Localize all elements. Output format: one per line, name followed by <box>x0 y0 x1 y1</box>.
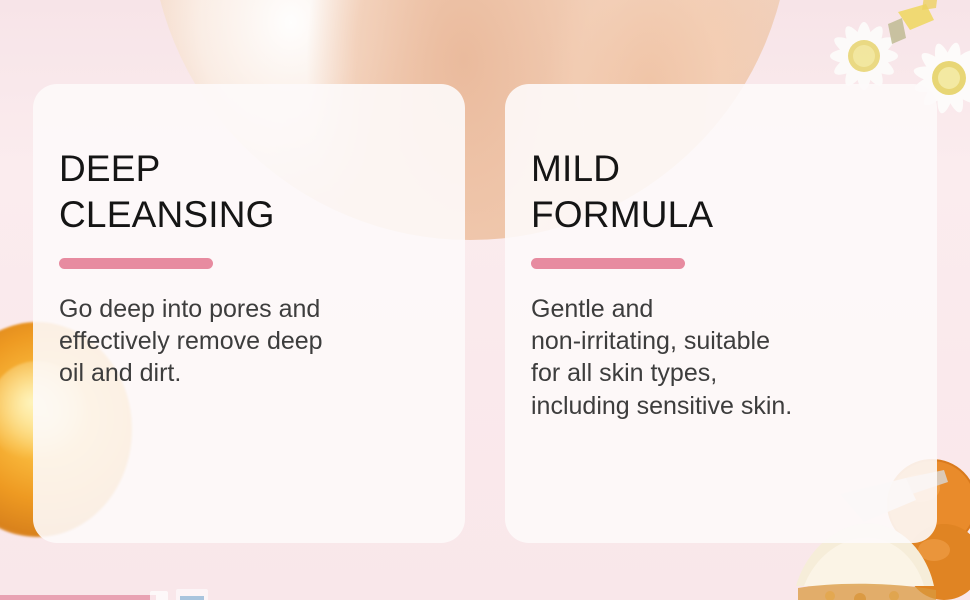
card-description: Go deep into pores and effectively remov… <box>59 293 465 390</box>
feature-card-deep-cleansing[interactable]: DEEP CLEANSING Go deep into pores and ef… <box>33 84 465 543</box>
feature-card-mild-formula[interactable]: MILD FORMULA Gentle and non-irritating, … <box>505 84 937 543</box>
feature-card-list: DEEP CLEANSING Go deep into pores and ef… <box>33 84 937 543</box>
bottom-edge-fragment-a <box>150 591 168 600</box>
card-title: DEEP CLEANSING <box>59 146 465 238</box>
bottom-edge-fragment-c <box>180 596 204 600</box>
card-accent-rule <box>531 258 685 269</box>
bottom-edge-strip <box>0 595 156 600</box>
card-accent-rule <box>59 258 213 269</box>
card-title: MILD FORMULA <box>531 146 937 238</box>
infographic-canvas: DEEP CLEANSING Go deep into pores and ef… <box>0 0 970 600</box>
card-description: Gentle and non-irritating, suitable for … <box>531 293 937 422</box>
